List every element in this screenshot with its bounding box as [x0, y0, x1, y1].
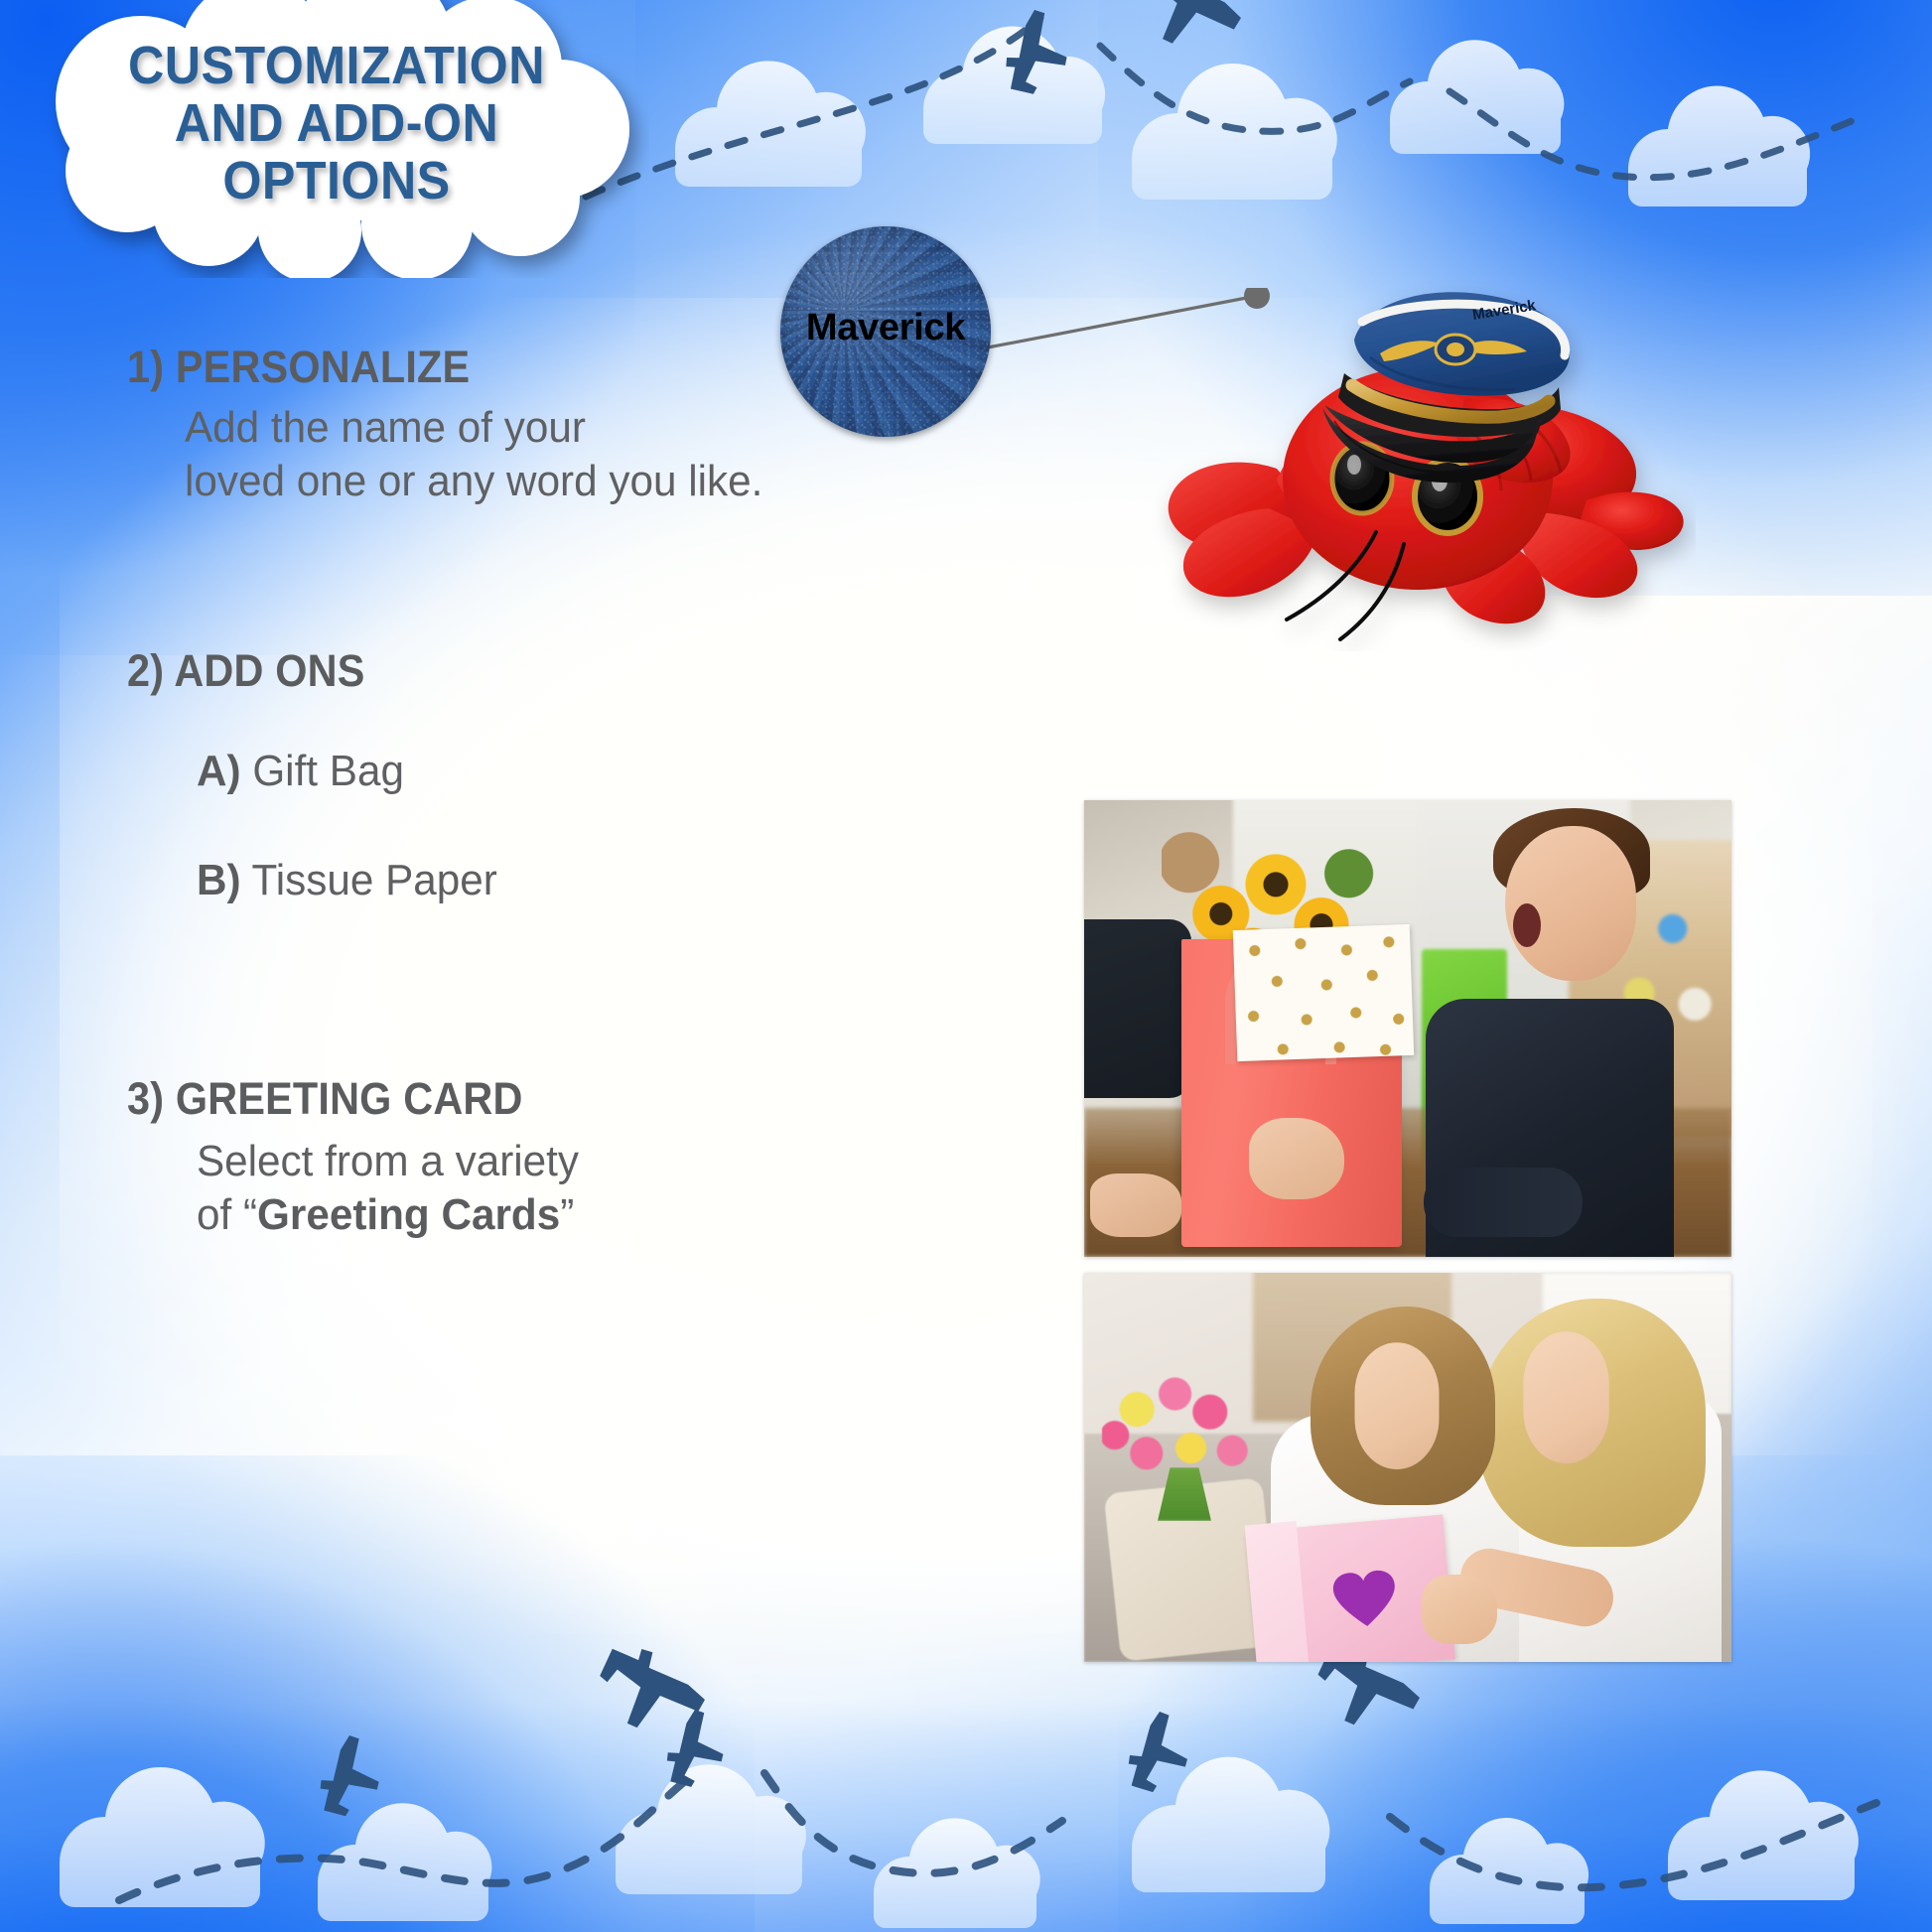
daughter-hand	[1422, 1575, 1497, 1644]
photo-greeting-card-scene	[1084, 1273, 1731, 1662]
infographic-canvas: CUSTOMIZATION AND ADD-ON OPTIONS 1) PERS…	[0, 0, 1932, 1932]
step-2-heading: 2) ADD ONS	[127, 645, 385, 697]
step-3-quote-close: ”	[560, 1190, 574, 1239]
addon-a-text: Gift Bag	[252, 747, 404, 795]
title-line-1: CUSTOMIZATION	[46, 38, 627, 95]
step-1-body: Add the name of your loved one or any wo…	[185, 401, 787, 507]
addon-a-label: A)	[197, 747, 241, 795]
step-2-heading-text: 2) ADD ONS	[127, 645, 365, 697]
lobster-plush-illustration: Maverick	[1120, 234, 1696, 651]
personalization-name-swatch: Maverick	[780, 226, 991, 437]
title-cloud-banner: CUSTOMIZATION AND ADD-ON OPTIONS	[24, 0, 649, 278]
step-3-body-line-2: of “Greeting Cards”	[197, 1188, 579, 1242]
step-3-heading: 3) GREETING CARD	[127, 1073, 557, 1125]
photo-gift-bag-scene	[1084, 800, 1731, 1257]
adult-hand	[1090, 1173, 1181, 1237]
star-pattern	[1233, 924, 1414, 1061]
step-1-body-line-2: loved one or any word you like.	[185, 455, 762, 508]
title-line-3: OPTIONS	[46, 153, 627, 210]
boy-hand	[1249, 1118, 1344, 1199]
gold-star-tissue-paper	[1233, 924, 1414, 1061]
heart-icon	[1330, 1568, 1401, 1633]
addon-option-gift-bag: A) Gift Bag	[197, 747, 413, 796]
step-3-quoted-term: Greeting Cards	[257, 1190, 560, 1239]
step-1-heading: 1) PERSONALIZE	[127, 342, 499, 393]
step-3-quote-open: of “	[197, 1190, 257, 1239]
swatch-name-label: Maverick	[780, 307, 991, 349]
boy-open-mouth	[1513, 903, 1541, 947]
title-line-2: AND ADD-ON	[46, 95, 627, 153]
step-1-body-line-1: Add the name of your	[185, 401, 762, 455]
step-3-heading-text: 3) GREETING CARD	[127, 1073, 523, 1125]
tulip-bouquet	[1102, 1368, 1261, 1497]
page-title: CUSTOMIZATION AND ADD-ON OPTIONS	[46, 38, 627, 209]
addon-b-text: Tissue Paper	[252, 856, 497, 904]
step-1-heading-text: 1) PERSONALIZE	[127, 342, 470, 393]
product-image-pilot-lobster-plush: Maverick	[1120, 234, 1696, 651]
addon-b-label: B)	[197, 856, 241, 904]
addon-option-tissue-paper: B) Tissue Paper	[197, 856, 509, 905]
boy-arm	[1424, 1168, 1583, 1237]
step-3-body-line-1: Select from a variety	[197, 1135, 579, 1188]
step-3-body: Select from a variety of “Greeting Cards…	[197, 1135, 595, 1241]
